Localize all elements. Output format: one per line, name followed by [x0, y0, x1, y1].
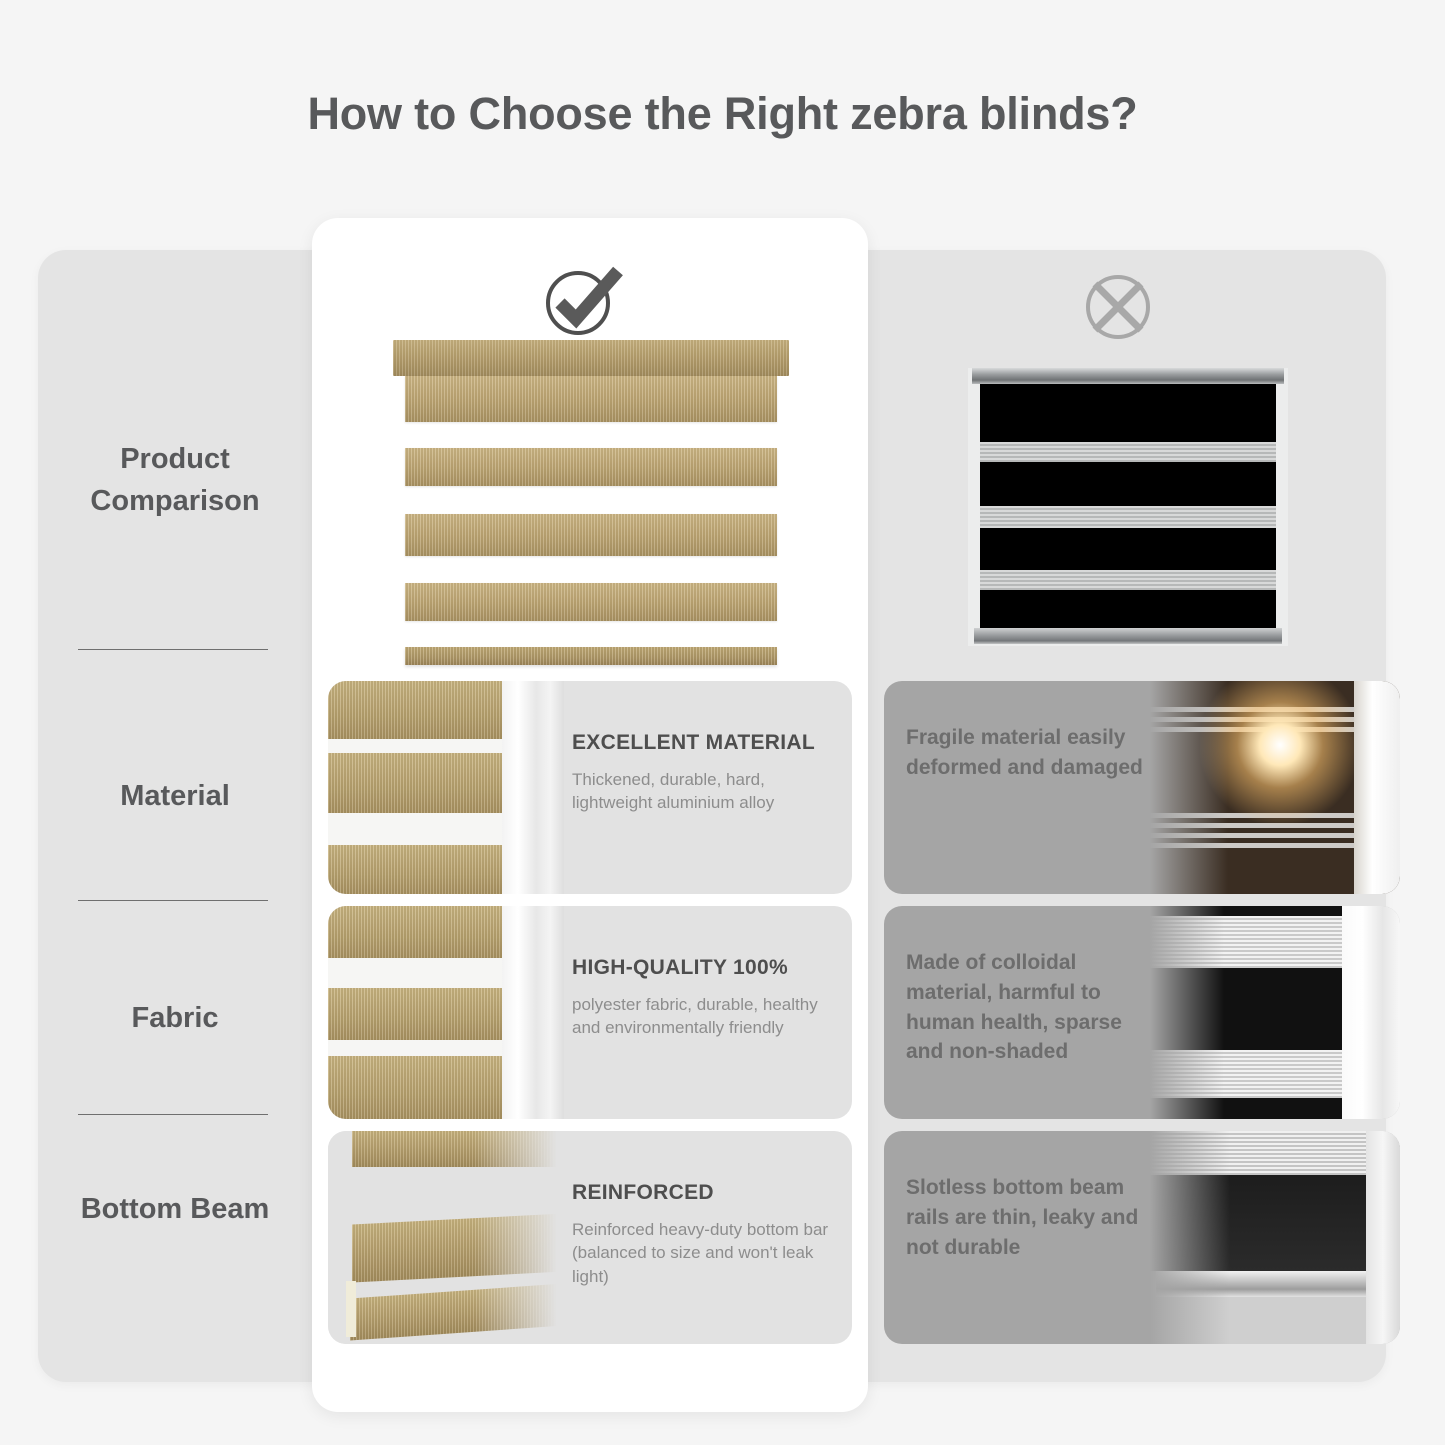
blind-band — [405, 376, 777, 422]
page-title: How to Choose the Right zebra blinds? — [0, 88, 1445, 140]
feature-heading: HIGH-QUALITY 100% — [572, 956, 840, 980]
feature-heading: EXCELLENT MATERIAL — [572, 731, 840, 755]
blind-band-sheer — [980, 506, 1276, 528]
bad-feature-card-bottom-beam: Slotless bottom beam rails are thin, lea… — [884, 1131, 1400, 1344]
blind-band-sheer — [980, 442, 1276, 462]
tan-blind-fabric-photo — [328, 906, 564, 1119]
good-feature-card-fabric: HIGH-QUALITY 100% polyester fabric, dura… — [328, 906, 852, 1119]
blind-band-opaque — [980, 462, 1276, 506]
bad-feature-text: Slotless bottom beam rails are thin, lea… — [906, 1173, 1161, 1262]
row-label-product-comparison: Product Comparison — [38, 438, 312, 522]
row-divider — [78, 900, 268, 901]
bottom-rail — [974, 628, 1282, 644]
sun-glare-blind-photo — [1150, 681, 1400, 894]
top-rail — [972, 368, 1284, 384]
bad-feature-text: Fragile material easily deformed and dam… — [906, 723, 1161, 783]
feature-body: Thickened, durable, hard, lightweight al… — [572, 768, 840, 815]
bad-product-hero-image — [968, 368, 1288, 646]
blind-band — [405, 448, 777, 486]
row-label-bottom-beam: Bottom Beam — [38, 1188, 312, 1230]
row-divider — [78, 649, 268, 650]
headrail — [393, 340, 789, 376]
tan-bottom-bar-photo — [328, 1131, 564, 1344]
good-feature-card-material: EXCELLENT MATERIAL Thickened, durable, h… — [328, 681, 852, 894]
blind-band-opaque — [980, 590, 1276, 628]
feature-body: polyester fabric, durable, healthy and e… — [572, 993, 840, 1040]
bad-feature-card-material: Fragile material easily deformed and dam… — [884, 681, 1400, 894]
row-label-column: Product Comparison Material Fabric Botto… — [38, 250, 312, 1382]
blind-band — [405, 514, 777, 556]
bottom-rail — [405, 647, 777, 665]
row-label-fabric: Fabric — [38, 997, 312, 1039]
tan-blind-window-photo — [328, 681, 564, 894]
good-feature-card-bottom-beam: REINFORCED Reinforced heavy-duty bottom … — [328, 1131, 852, 1344]
feature-body: Reinforced heavy-duty bottom bar (balanc… — [572, 1218, 840, 1288]
blind-band-opaque — [980, 384, 1276, 442]
row-label-material: Material — [38, 775, 312, 817]
blind-band — [405, 583, 777, 621]
row-divider — [78, 1114, 268, 1115]
circle-cross-icon — [1073, 262, 1163, 352]
circle-check-icon — [538, 255, 628, 345]
blind-band-sheer — [980, 570, 1276, 590]
feature-heading: REINFORCED — [572, 1181, 840, 1205]
good-product-hero-image — [393, 340, 789, 665]
bad-feature-text: Made of colloidal material, harmful to h… — [906, 948, 1161, 1067]
black-striped-blind-photo — [1150, 906, 1400, 1119]
blind-band-opaque — [980, 528, 1276, 570]
bad-feature-card-fabric: Made of colloidal material, harmful to h… — [884, 906, 1400, 1119]
thin-bottom-rail-photo — [1150, 1131, 1400, 1344]
